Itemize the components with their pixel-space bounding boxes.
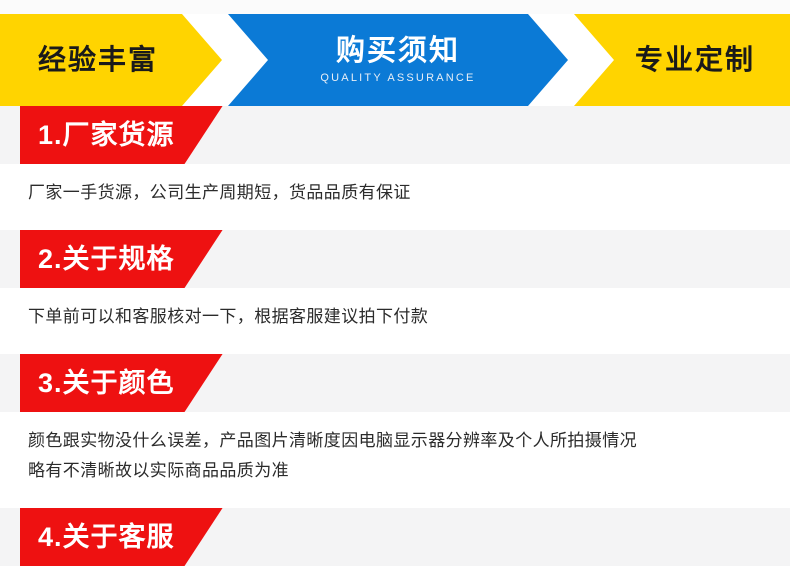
section-3-line-2: 略有不清晰故以实际商品品质为准 [28,456,770,486]
section-2-title-text: 2.关于规格 [38,246,175,273]
left-chevron-label: 经验丰富 [0,14,196,106]
right-chevron-label: 专业定制 [600,14,790,106]
section-2-body: 下单前可以和客服核对一下，根据客服建议拍下付款 [0,288,790,348]
section-2-title-tag: 2.关于规格 [20,230,223,288]
section-3-title-text: 3.关于颜色 [38,370,175,397]
section-4-title-text: 4.关于客服 [38,524,175,551]
banner-title-cn: 购买须知 [336,37,460,66]
section-1-title-text: 1.厂家货源 [38,122,175,149]
quality-assurance-banner: { "colors": { "yellow": "#ffd400", "blue… [0,0,790,517]
sections-container: 1.厂家货源 厂家一手货源，公司生产周期短，货品品质有保证 2.关于规格 下单前… [0,106,790,566]
section-2: 2.关于规格 下单前可以和客服核对一下，根据客服建议拍下付款 [0,230,790,348]
section-3-line-1: 颜色跟实物没什么误差，产品图片清晰度因电脑显示器分辨率及个人所拍摄情况 [28,426,770,456]
section-3-title-tag: 3.关于颜色 [20,354,223,412]
top-strip [0,0,790,14]
section-1-body: 厂家一手货源，公司生产周期短，货品品质有保证 [0,164,790,224]
section-1-title-tag: 1.厂家货源 [20,106,223,164]
section-1-title-band: 1.厂家货源 [0,106,790,164]
center-chevron-label: 购买须知 QUALITY ASSURANCE [238,14,558,106]
section-3-title-band: 3.关于颜色 [0,354,790,412]
section-2-title-band: 2.关于规格 [0,230,790,288]
right-chevron-text: 专业定制 [635,46,755,74]
section-3-body: 颜色跟实物没什么误差，产品图片清晰度因电脑显示器分辨率及个人所拍摄情况 略有不清… [0,412,790,502]
section-1-line-1: 厂家一手货源，公司生产周期短，货品品质有保证 [28,178,770,208]
section-3: 3.关于颜色 颜色跟实物没什么误差，产品图片清晰度因电脑显示器分辨率及个人所拍摄… [0,354,790,502]
left-chevron-text: 经验丰富 [38,46,158,74]
header-banner: 经验丰富 购买须知 QUALITY ASSURANCE 专业定制 [0,14,790,106]
section-2-line-1: 下单前可以和客服核对一下，根据客服建议拍下付款 [28,302,770,332]
banner-title-en: QUALITY ASSURANCE [320,73,475,84]
section-1: 1.厂家货源 厂家一手货源，公司生产周期短，货品品质有保证 [0,106,790,224]
